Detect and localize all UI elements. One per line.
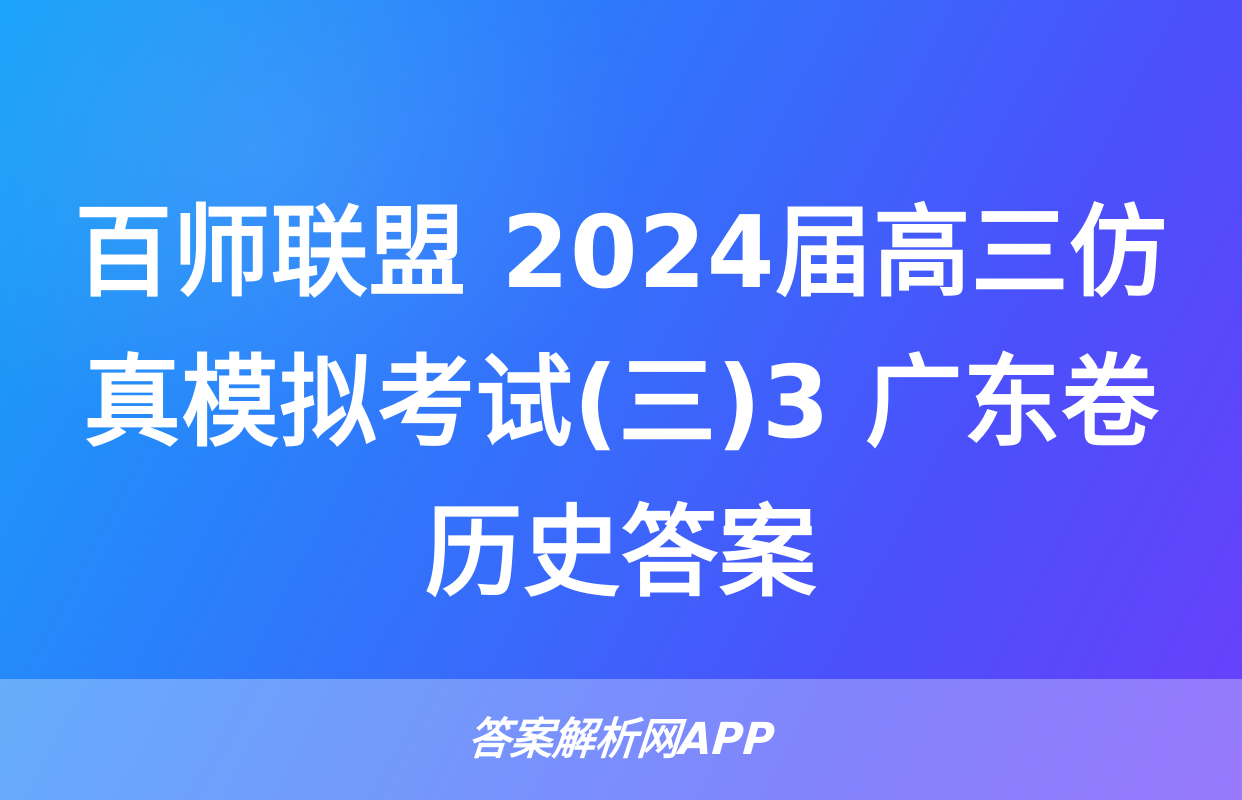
- title-block: 百师联盟 2024届高三仿 真模拟考试(三)3 广东卷 历史答案: [0, 178, 1242, 638]
- watermark-label: 答案解析网APP: [466, 715, 776, 765]
- title-line-1: 百师联盟 2024届高三仿: [75, 178, 1167, 328]
- title-line-3: 历史答案: [425, 478, 817, 628]
- cover-banner: 百师联盟 2024届高三仿 真模拟考试(三)3 广东卷 历史答案 答案解析网AP…: [0, 0, 1242, 800]
- watermark-band: 答案解析网APP: [0, 679, 1242, 800]
- title-line-2: 真模拟考试(三)3 广东卷: [83, 328, 1159, 478]
